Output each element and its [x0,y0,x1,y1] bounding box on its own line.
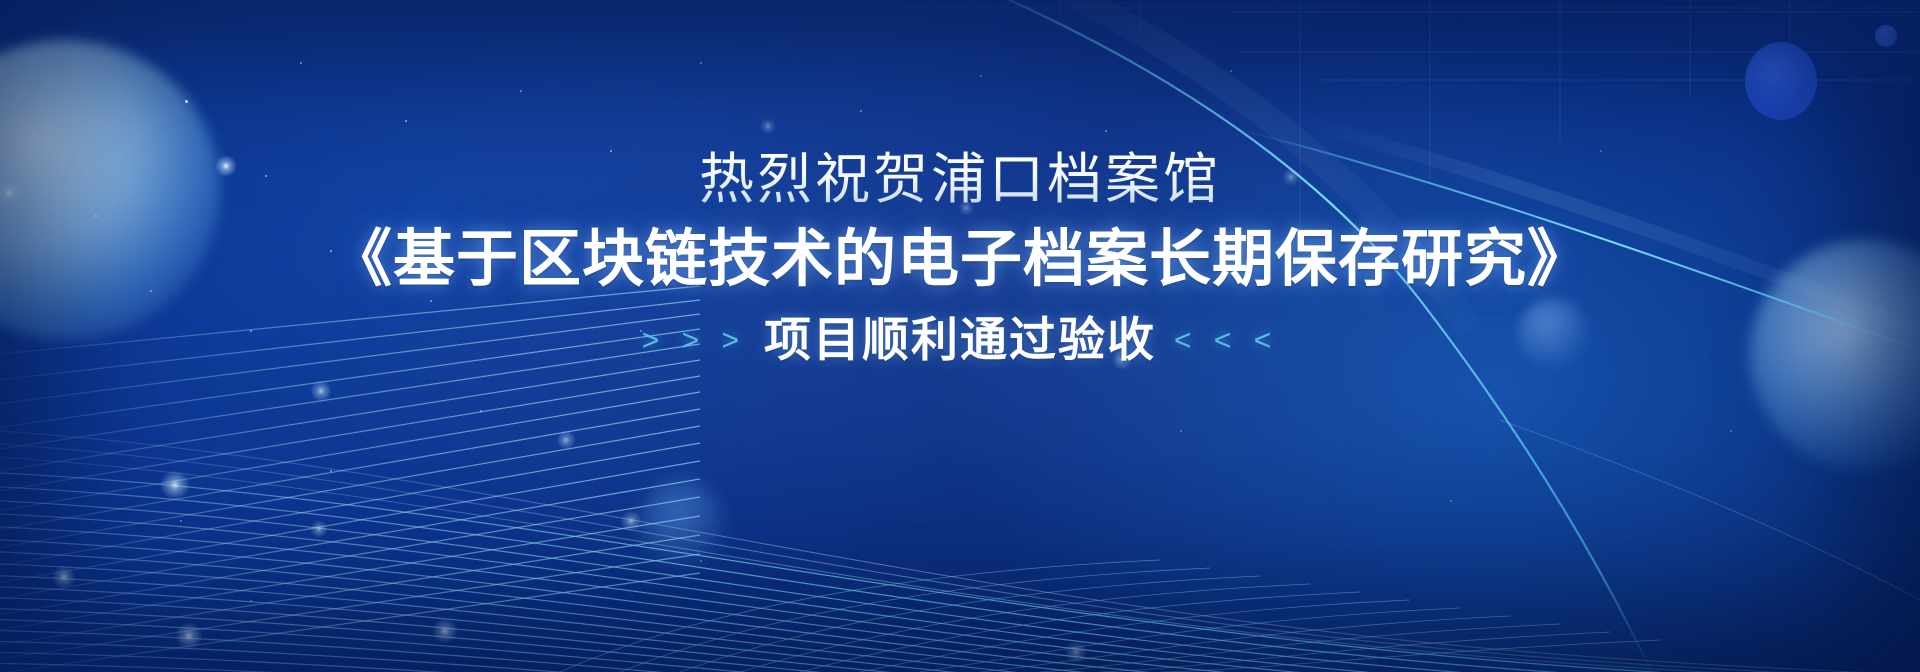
project-title: 《基于区块链技术的电子档案长期保存研究》 [330,223,1590,296]
celebration-banner: 热烈祝贺浦口档案馆 《基于区块链技术的电子档案长期保存研究》 > > > 项目顺… [0,0,1920,672]
subline: 项目顺利通过验收 [764,312,1156,368]
banner-text-block: 热烈祝贺浦口档案馆 《基于区块链技术的电子档案长期保存研究》 > > > 项目顺… [0,148,1920,369]
soft-blue-orb-center [640,478,724,570]
solid-blue-orb [1745,42,1817,120]
subline-row: > > > 项目顺利通过验收 < < < [642,312,1278,368]
chevrons-right-icon: < < < [1174,324,1278,358]
small-blue-orb [1875,25,1897,47]
headline: 热烈祝贺浦口档案馆 [699,148,1221,211]
chevrons-left-icon: > > > [642,324,746,358]
